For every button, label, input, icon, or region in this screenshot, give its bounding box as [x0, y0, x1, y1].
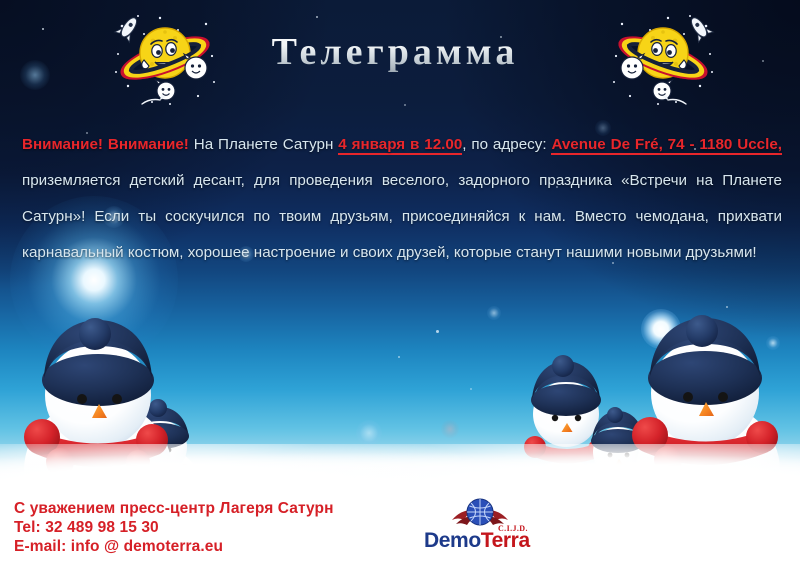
announcement-body: Внимание! Внимание! На Планете Сатурн 4 … [22, 127, 782, 271]
logo-word-demo: Demo [424, 529, 481, 552]
footer-signature: С уважением пресс-центр Лагеря Сатурн [14, 499, 334, 518]
footer-email: E-mail: info @ demoterra.eu [14, 537, 334, 556]
poster-header: Телеграмма [0, 0, 800, 120]
footer-phone: Tel: 32 489 98 15 30 [14, 518, 334, 537]
page-title: Телеграмма [230, 30, 560, 74]
telegram-poster: Телеграмма Внимание! Внимание! На Планет… [0, 0, 800, 564]
attention-text: Внимание! Внимание! [22, 136, 189, 153]
body-segment-1: На Планете Сатурн [189, 136, 338, 153]
body-segment-3: приземляется детский десант, для проведе… [22, 172, 782, 261]
demoterra-logo: C.I.J.D. DemoTerra [424, 498, 544, 556]
saturn-planet-icon [600, 8, 720, 112]
saturn-planet-icon [108, 8, 228, 112]
logo-wordmark: DemoTerra [424, 530, 544, 552]
logo-word-terra: Terra [481, 529, 530, 552]
footer-contact-block: С уважением пресс-центр Лагеря Сатурн Te… [14, 499, 334, 556]
event-date-time: 4 января в 12.00 [338, 136, 462, 155]
body-segment-2: , по адресу: [462, 136, 551, 153]
event-address: Avenue De Fré, 74 - 1180 Uccle, [551, 136, 782, 155]
